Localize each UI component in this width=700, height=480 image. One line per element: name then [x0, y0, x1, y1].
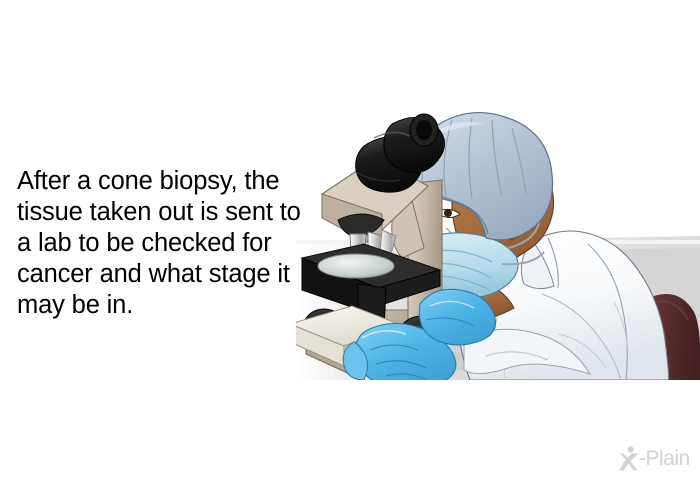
- specimen-slide: [318, 254, 394, 278]
- xplain-logo: -Plain: [618, 443, 698, 473]
- page-root: After a cone biopsy, the tissue taken ou…: [0, 0, 700, 480]
- x-person-icon: [618, 446, 640, 471]
- caption-text: After a cone biopsy, the tissue taken ou…: [17, 166, 317, 321]
- logo-text: -Plain: [639, 448, 690, 469]
- illustration-lab-technician-microscope: [296, 88, 700, 380]
